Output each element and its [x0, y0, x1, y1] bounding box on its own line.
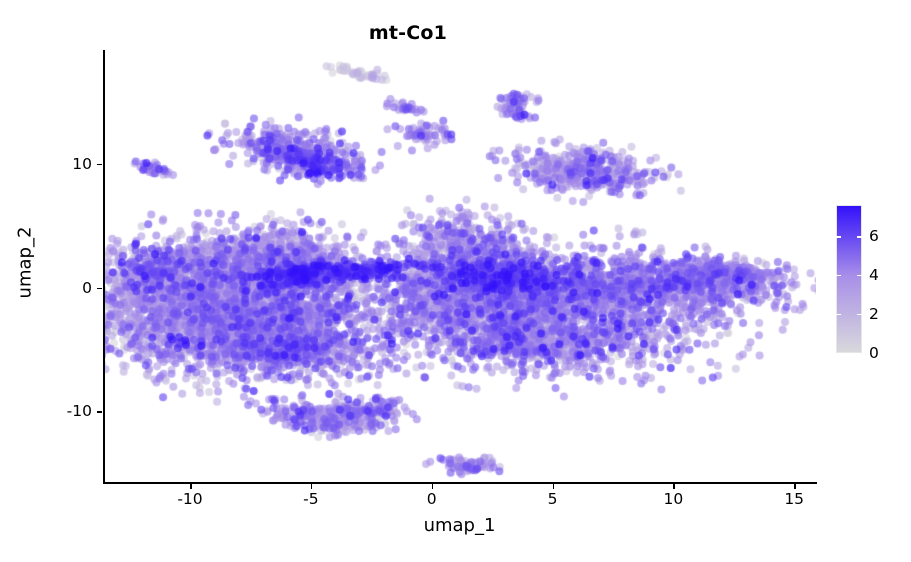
colorbar[interactable] [836, 205, 862, 353]
x-tick-label: 0 [427, 490, 437, 508]
colorbar-tick-label: 0 [869, 344, 879, 362]
colorbar-tick-label: 4 [869, 266, 879, 284]
y-tick-mark [97, 411, 102, 413]
x-tick-mark [673, 484, 675, 489]
colorbar-tick-mark [836, 275, 841, 276]
x-tick-label: -10 [177, 490, 202, 508]
x-tick-mark [190, 484, 192, 489]
x-tick-mark [553, 484, 555, 489]
colorbar-tick-mark [857, 275, 862, 276]
colorbar-tick-mark [857, 353, 862, 354]
colorbar-tick-mark [857, 236, 862, 237]
figure-canvas: mt-Co1 -10-5051015100-10 umap_1 umap_2 6… [0, 0, 911, 562]
colorbar-gradient [836, 205, 862, 353]
y-tick-mark [97, 288, 102, 290]
x-tick-mark [794, 484, 796, 489]
x-tick-label: -5 [303, 490, 318, 508]
x-tick-mark [311, 484, 313, 489]
colorbar-tick-mark [836, 314, 841, 315]
colorbar-tick-label: 6 [869, 227, 879, 245]
page-title: mt-Co1 [0, 22, 816, 44]
y-tick-label: -10 [67, 402, 92, 420]
x-tick-label: 5 [548, 490, 558, 508]
x-tick-label: 10 [664, 490, 684, 508]
colorbar-tick-mark [836, 236, 841, 237]
colorbar-tick-mark [857, 314, 862, 315]
y-axis-spine [103, 50, 105, 484]
x-axis-spine [103, 482, 817, 484]
y-tick-mark [97, 164, 102, 166]
x-axis-label: umap_1 [103, 515, 816, 536]
y-axis-label: umap_2 [15, 153, 36, 373]
scatter-plot-area[interactable] [103, 50, 816, 483]
x-tick-label: 15 [784, 490, 804, 508]
y-tick-label: 0 [82, 279, 92, 297]
y-tick-label: 10 [72, 155, 92, 173]
colorbar-tick-label: 2 [869, 305, 879, 323]
colorbar-tick-mark [836, 353, 841, 354]
x-tick-mark [432, 484, 434, 489]
